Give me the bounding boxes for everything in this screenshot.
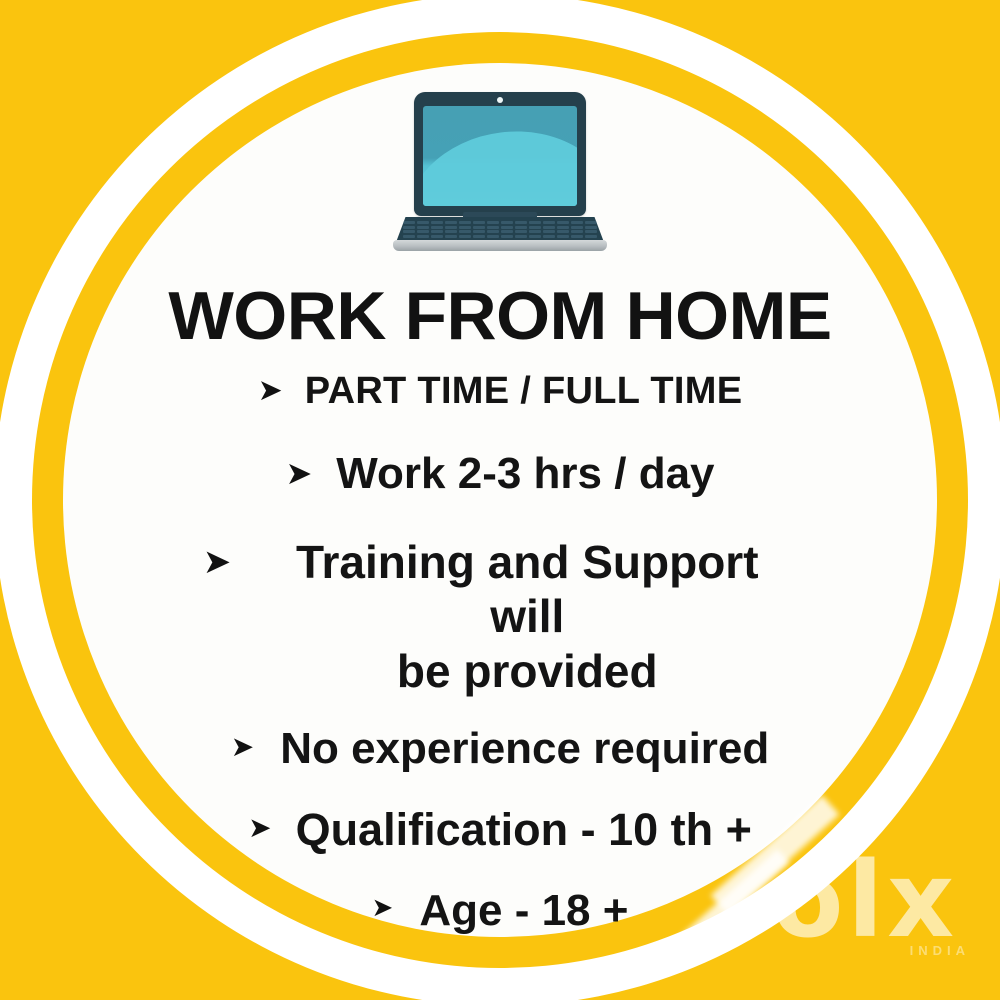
list-item: ➤ Work 2-3 hrs / day [0,449,1000,499]
list-item-label: Age - 18 + [419,886,628,936]
list-item-label: PART TIME / FULL TIME [305,370,743,413]
list-item-label: No experience required [280,724,769,774]
screen-highlight [423,120,577,206]
list-item: ➤ No experience required [0,724,1000,774]
poster-canvas: WORK FROM HOME ➤ PART TIME / FULL TIME ➤… [0,0,1000,1000]
arrow-bullet-icon: ➤ [203,545,232,579]
webcam-icon [497,97,503,103]
arrow-bullet-icon: ➤ [372,895,394,921]
arrow-bullet-icon: ➤ [248,814,271,842]
list-item: ➤ Age - 18 + [0,886,1000,936]
list-item-label: Work 2-3 hrs / day [336,449,714,499]
list-item: ➤ PART TIME / FULL TIME [0,370,1000,413]
laptop-lid [414,92,586,216]
arrow-bullet-icon: ➤ [231,733,254,761]
benefits-list: ➤ PART TIME / FULL TIME ➤ Work 2-3 hrs /… [0,370,1000,936]
keyboard-keys [403,221,597,238]
list-item: ➤ Training and Support will be provided [0,535,1000,698]
list-item-label: Qualification - 10 th + [296,804,752,856]
page-title: WORK FROM HOME [0,277,1000,355]
arrow-bullet-icon: ➤ [258,376,283,406]
olx-region-label: INDIA [910,943,970,958]
list-item: ➤ Qualification - 10 th + [0,804,1000,856]
laptop-illustration [393,92,607,254]
laptop-base [393,240,607,251]
arrow-bullet-icon: ➤ [285,457,312,489]
laptop-screen [423,106,577,206]
list-item-label: Training and Support will be provided [257,535,797,698]
